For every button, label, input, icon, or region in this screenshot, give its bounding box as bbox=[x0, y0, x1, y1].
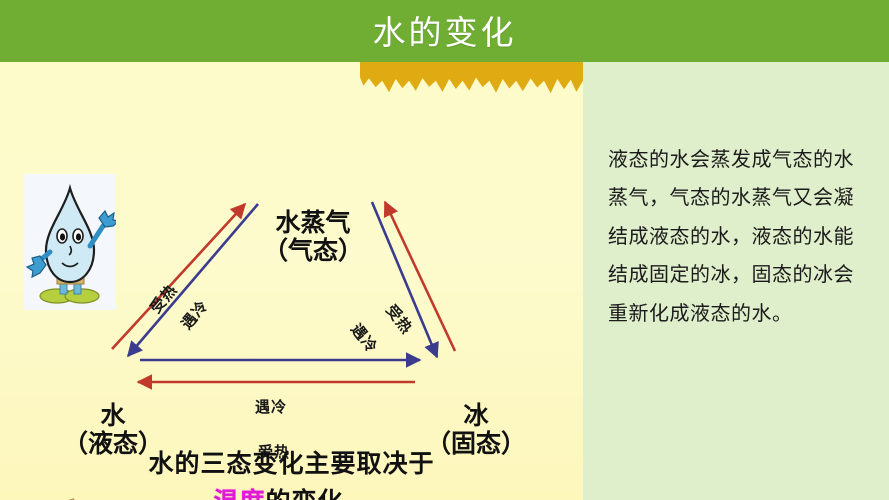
diagram-panel: 水蒸气 （气态） 水 （液态） 冰 （固态） 受热 遇冷 受热 遇冷 遇冷 受热… bbox=[0, 62, 583, 500]
node-water-name: 水 bbox=[58, 402, 168, 430]
slide-header: 水的变化 bbox=[0, 0, 889, 62]
explanation-paragraph: 液态的水会蒸发成气态的水蒸气，气态的水蒸气又会凝结成液态的水，液态的水能结成固定… bbox=[608, 140, 858, 332]
arrow-label-bottom-cool: 遇冷 bbox=[255, 396, 287, 417]
fill-in-blank: 温度 bbox=[213, 482, 265, 500]
books-decoration-icon bbox=[0, 494, 121, 500]
diagram-node-vapor: 水蒸气 （气态） bbox=[243, 209, 383, 265]
node-vapor-name: 水蒸气 bbox=[243, 209, 383, 237]
torn-paper-edge-decoration bbox=[360, 62, 583, 96]
arrow-left-cool bbox=[128, 204, 258, 356]
conclusion-text: 水的三态变化主要取决于 温度的变化。 bbox=[0, 444, 583, 500]
arrow-left-heat bbox=[112, 204, 245, 349]
explanation-panel: 液态的水会蒸发成气态的水蒸气，气态的水蒸气又会凝结成液态的水，液态的水能结成固定… bbox=[583, 62, 889, 500]
node-vapor-state: （气态） bbox=[243, 237, 383, 265]
blank-answer: 温度 bbox=[213, 487, 265, 500]
conclusion-tail: 的变化。 bbox=[266, 487, 370, 500]
slide: 水的变化 bbox=[0, 0, 889, 500]
water-state-diagram: 水蒸气 （气态） 水 （液态） 冰 （固态） 受热 遇冷 受热 遇冷 遇冷 受热 bbox=[0, 124, 583, 424]
node-ice-name: 冰 bbox=[416, 402, 536, 430]
conclusion-line1: 水的三态变化主要取决于 bbox=[0, 444, 583, 480]
page-title: 水的变化 bbox=[373, 6, 517, 54]
